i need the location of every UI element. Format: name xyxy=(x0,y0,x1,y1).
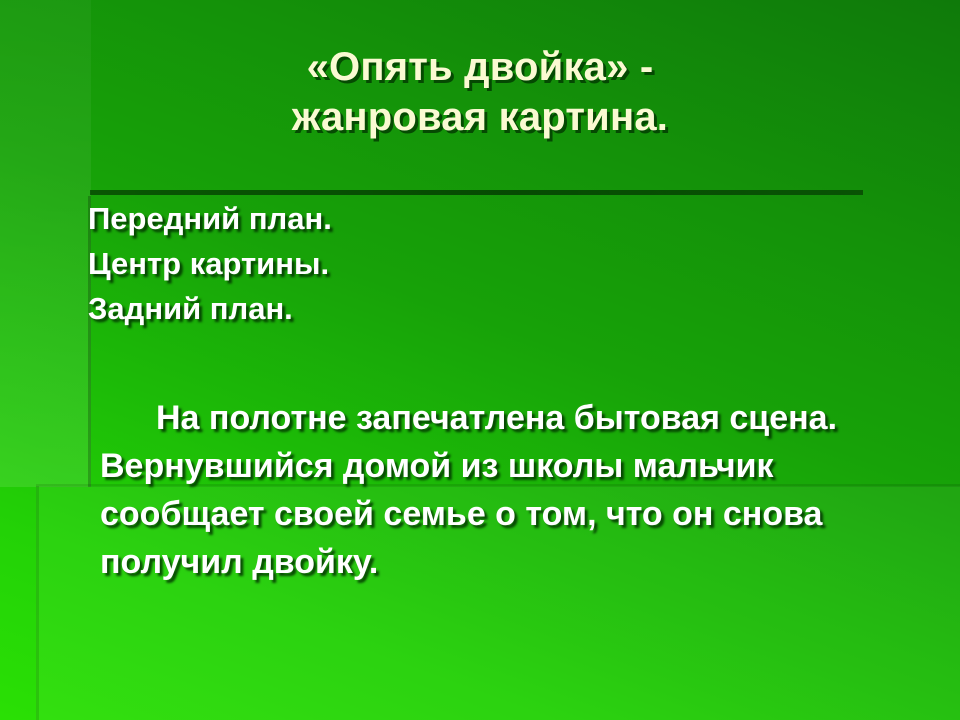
presentation-slide: «Опять двойка» - жанровая картина. Перед… xyxy=(0,0,960,720)
plan-list-item-foreground: Передний план. xyxy=(88,196,888,241)
plan-list-item-center: Центр картины. xyxy=(88,241,888,286)
slide-title-line-2: жанровая картина. xyxy=(0,92,960,142)
slide-title-line-1: «Опять двойка» - xyxy=(0,42,960,92)
body-paragraph-block: На полотне запечатлена бытовая сцена. Ве… xyxy=(100,394,890,586)
slide-title: «Опять двойка» - жанровая картина. xyxy=(0,42,960,142)
body-paragraph: На полотне запечатлена бытовая сцена. Ве… xyxy=(100,394,890,586)
plan-list-item-background: Задний план. xyxy=(88,286,888,331)
background-lower-panel-left-edge xyxy=(36,486,39,720)
title-divider-rule xyxy=(90,190,863,195)
plan-list: Передний план. Центр картины. Задний пла… xyxy=(88,196,888,331)
